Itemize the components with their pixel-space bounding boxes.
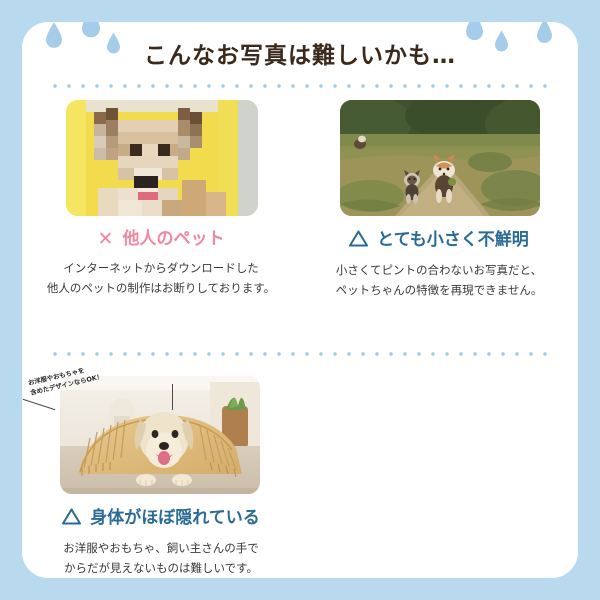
note-leader-line: [23, 399, 56, 410]
item-too-small-blurry: とても小さく不鮮明 小さくてピントの合わないお写真だと、 ペットちゃんの特徴を再…: [300, 92, 578, 348]
caption-heading-row: とても小さく不鮮明: [300, 230, 578, 251]
poster-root: こんなお写真は難しいかも…: [0, 0, 600, 600]
caption-heading-row: ✕ 他人のペット: [22, 230, 300, 249]
dog-under-blanket-photo: [60, 376, 260, 494]
caption-body: インターネットからダウンロードした 他人のペットの制作はお断りしております。: [22, 258, 300, 298]
caption-body-hidden: 身体がほぼ隠れている お洋服やおもちゃ、飼い主さんの手で からだが見えないものは…: [22, 508, 300, 578]
caption-heading: 他人のペット: [122, 231, 224, 248]
row-bottom: お洋服やおもちゃを 含めたデザインならOK！ 身体がほぼ隠れている お洋服やおも…: [22, 360, 578, 576]
caption-too-small-blurry: とても小さく不鮮明 小さくてピントの合わないお写真だと、 ペットちゃんの特徴を再…: [300, 230, 578, 300]
content-card: こんなお写真は難しいかも…: [22, 22, 578, 578]
caption-heading-row: 身体がほぼ隠れている: [22, 508, 300, 529]
caption-heading: とても小さく不鮮明: [377, 232, 529, 249]
field-dogs-art: [340, 100, 540, 216]
caption-heading: 身体がほぼ隠れている: [90, 510, 260, 527]
item-other-pet: ✕ 他人のペット インターネットからダウンロードした 他人のペットの制作はお断り…: [22, 92, 300, 348]
header: こんなお写真は難しいかも…: [22, 22, 578, 84]
cross-mark-icon: ✕: [98, 230, 114, 249]
page-title: こんなお写真は難しいかも…: [22, 36, 578, 70]
triangle-warning-icon: [349, 230, 368, 251]
divider-middle: [48, 352, 552, 356]
blanket-dog-art: [60, 376, 260, 494]
triangle-glyph: [62, 508, 81, 525]
caption-body: 小さくてピントの合わないお写真だと、 ペットちゃんの特徴を再現できません。: [300, 260, 578, 300]
corgi-mosaic-art: [66, 100, 258, 216]
row-top: ✕ 他人のペット インターネットからダウンロードした 他人のペットの制作はお断り…: [22, 92, 578, 348]
caption-body: お洋服やおもちゃ、飼い主さんの手で からだが見えないものは難しいです。: [22, 538, 300, 578]
pixelated-corgi-photo: [66, 100, 258, 216]
triangle-glyph: [349, 230, 368, 247]
note-leader-bar: [172, 384, 173, 410]
divider-top: [48, 84, 552, 88]
running-dogs-field-photo: [340, 100, 540, 216]
caption-other-pet: ✕ 他人のペット インターネットからダウンロードした 他人のペットの制作はお断り…: [22, 230, 300, 298]
triangle-warning-icon: [62, 508, 81, 529]
item-body-hidden: お洋服やおもちゃを 含めたデザインならOK！ 身体がほぼ隠れている お洋服やおも…: [22, 360, 300, 576]
